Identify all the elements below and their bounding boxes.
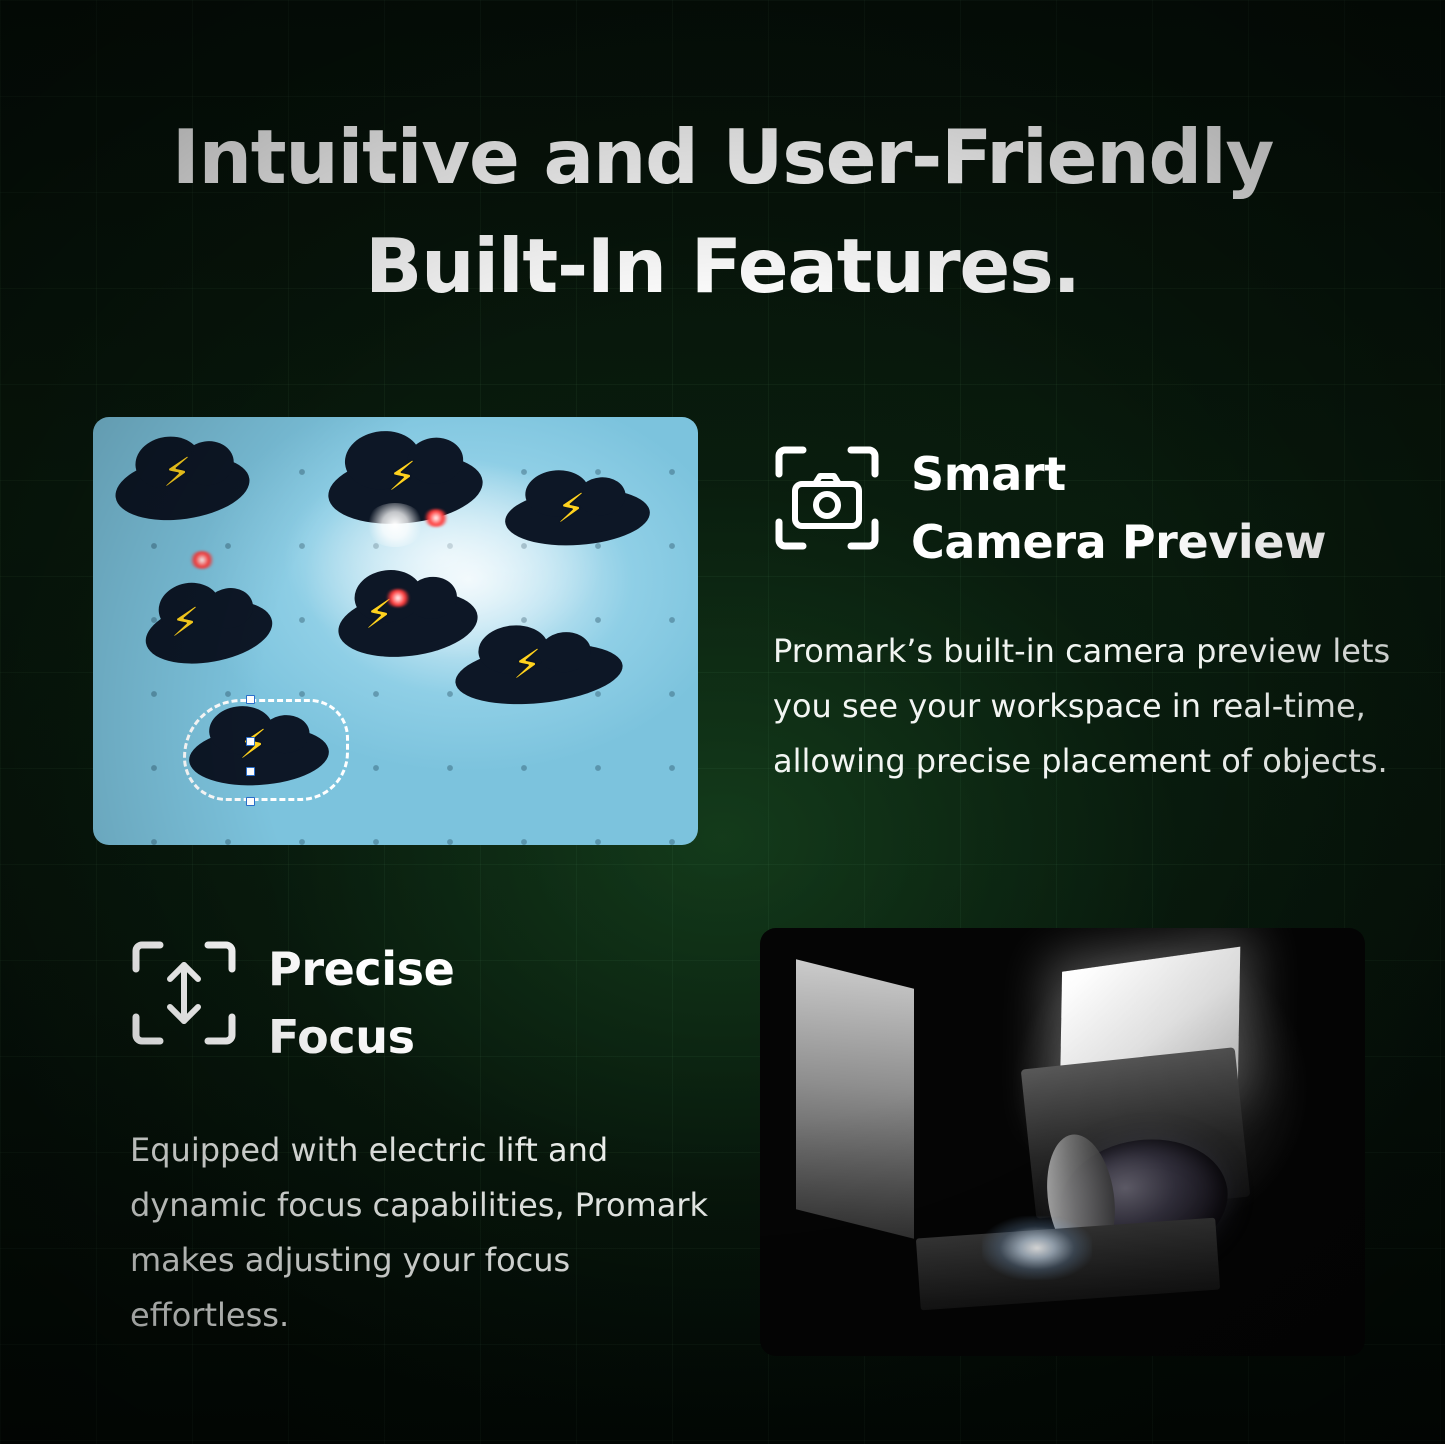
- camera-frame-icon: [773, 444, 881, 556]
- feature-precise-focus: Precise Focus Equipped with electric lif…: [130, 935, 730, 1343]
- focus-lens-photo: [760, 928, 1365, 1356]
- page-title-line-2: Built-In Features.: [0, 212, 1445, 321]
- selection-handle[interactable]: [246, 767, 255, 776]
- reflector-panel: [796, 959, 914, 1238]
- selection-handle[interactable]: [246, 695, 255, 704]
- page-title: Intuitive and User-Friendly Built-In Fea…: [0, 103, 1445, 321]
- camera-preview-photo: ⚡ ⚡ ⚡ ⚡ ⚡ ⚡: [93, 417, 698, 845]
- laser-spot: [189, 551, 215, 569]
- page-root: Intuitive and User-Friendly Built-In Fea…: [0, 0, 1445, 1444]
- selection-handle[interactable]: [246, 737, 255, 746]
- feature-body-text: Promark’s built-in camera preview lets y…: [773, 624, 1393, 789]
- feature-body-text: Equipped with electric lift and dynamic …: [130, 1123, 730, 1343]
- feature-heading: Smart Camera Preview: [911, 440, 1326, 576]
- selection-outline[interactable]: [183, 699, 349, 801]
- feature-heading: Precise Focus: [268, 935, 454, 1071]
- feature-header: Precise Focus: [130, 935, 730, 1071]
- feature-smart-camera-preview: Smart Camera Preview Promark’s built-in …: [773, 440, 1393, 789]
- laser-spot: [385, 589, 411, 607]
- feature-heading-line-2: Focus: [268, 1003, 454, 1071]
- light-flare: [982, 1216, 1092, 1280]
- laser-spot: [423, 509, 449, 527]
- lightning-bolt-icon: ⚡: [163, 453, 191, 493]
- feature-heading-line-1: Precise: [268, 935, 454, 1003]
- laser-flare: [365, 503, 425, 547]
- page-title-line-1: Intuitive and User-Friendly: [0, 103, 1445, 212]
- selection-handle[interactable]: [246, 797, 255, 806]
- lightning-bolt-icon: ⚡: [557, 489, 585, 529]
- feature-header: Smart Camera Preview: [773, 440, 1393, 576]
- feature-heading-line-2: Camera Preview: [911, 508, 1326, 576]
- focus-arrows-frame-icon: [130, 939, 238, 1051]
- feature-heading-line-1: Smart: [911, 440, 1326, 508]
- lightning-bolt-icon: ⚡: [388, 457, 416, 497]
- lightning-bolt-icon: ⚡: [513, 645, 541, 685]
- lightning-bolt-icon: ⚡: [171, 603, 199, 643]
